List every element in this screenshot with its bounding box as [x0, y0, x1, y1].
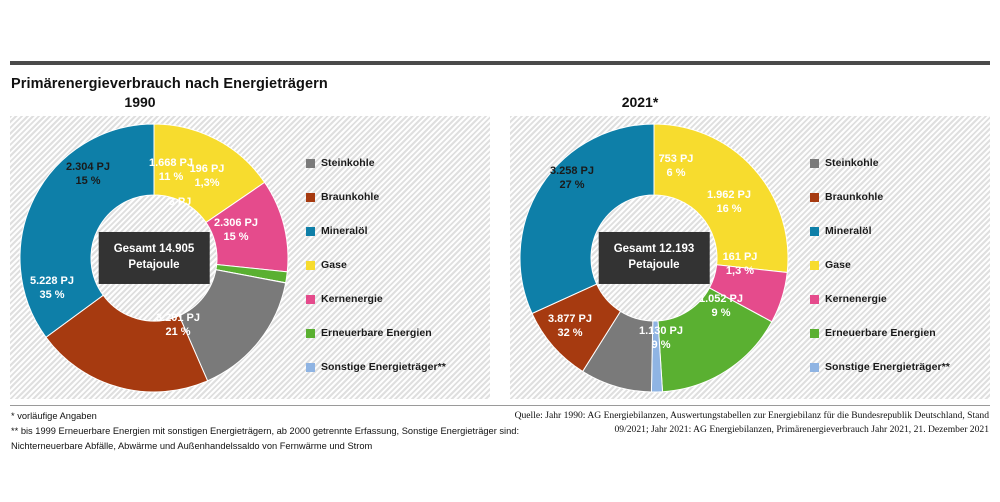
legend-swatch-icon-braunkohle	[810, 193, 819, 202]
footnote-line-1: * vorläufige Angaben	[11, 409, 531, 424]
top-divider	[10, 61, 990, 65]
legend-swatch-icon-sonstige-energietraeger	[306, 363, 315, 372]
legend-item-erneuerbare-energien[interactable]: Erneuerbare Energien	[810, 316, 950, 350]
footnote-line-2: ** bis 1999 Erneuerbare Energien mit son…	[11, 424, 531, 439]
center-total-line2: Petajoule	[628, 259, 679, 271]
legend-item-mineraloel[interactable]: Mineralöl	[810, 214, 950, 248]
chart-title-2021: 2021*	[400, 94, 880, 110]
page-title: Primärenergieverbrauch nach Energieträge…	[11, 76, 328, 92]
donut-chart-1990: Gesamt 14.905 Petajoule 2.304 PJ 15 % 1.…	[18, 122, 290, 394]
legend-swatch-icon-mineraloel	[306, 227, 315, 236]
legend-swatch-icon-kernenergie	[810, 295, 819, 304]
source-note: Quelle: Jahr 1990: AG Energiebilanzen, A…	[469, 409, 989, 438]
legend-swatch-icon-erneuerbare-energien	[810, 329, 819, 338]
bottom-divider	[10, 405, 990, 406]
center-total-line1: Gesamt 14.905	[114, 243, 195, 255]
legend-swatch-icon-sonstige-energietraeger	[810, 363, 819, 372]
legend-swatch-icon-steinkohle	[810, 159, 819, 168]
center-total-line1: Gesamt 12.193	[614, 243, 695, 255]
legend-swatch-icon-mineraloel	[810, 227, 819, 236]
legend-item-sonstige-energietraeger[interactable]: Sonstige Energieträger**	[810, 350, 950, 384]
legend-item-braunkohle[interactable]: Braunkohle	[306, 180, 446, 214]
center-total-1990: Gesamt 14.905 Petajoule	[100, 233, 209, 283]
legend-swatch-icon-steinkohle	[306, 159, 315, 168]
pie-slice-mineral-l[interactable]	[20, 124, 154, 337]
legend-item-gase[interactable]: Gase	[306, 248, 446, 282]
legend-swatch-icon-gase	[810, 261, 819, 270]
legend-swatch-icon-kernenergie	[306, 295, 315, 304]
legend-item-erneuerbare-energien[interactable]: Erneuerbare Energien	[306, 316, 446, 350]
legend-item-kernenergie[interactable]: Kernenergie	[306, 282, 446, 316]
source-line-1: Quelle: Jahr 1990: AG Energiebilanzen, A…	[469, 409, 989, 423]
footnotes: * vorläufige Angaben ** bis 1999 Erneuer…	[11, 409, 531, 454]
infographic-page: Primärenergieverbrauch nach Energieträge…	[0, 0, 1000, 502]
chart-panel-1990: 1990 Gesamt 14.905 Petajoule 2.304 PJ 15…	[10, 116, 490, 399]
legend-item-steinkohle[interactable]: Steinkohle	[810, 146, 950, 180]
chart-title-1990: 1990	[0, 94, 380, 110]
legend-item-kernenergie[interactable]: Kernenergie	[810, 282, 950, 316]
legend-item-steinkohle[interactable]: Steinkohle	[306, 146, 446, 180]
legend-1990: Steinkohle Braunkohle Mineralöl Gase Ker…	[306, 146, 446, 384]
legend-swatch-icon-erneuerbare-energien	[306, 329, 315, 338]
donut-chart-2021: Gesamt 12.193 Petajoule 3.258 PJ 27 % 75…	[518, 122, 790, 394]
legend-item-mineraloel[interactable]: Mineralöl	[306, 214, 446, 248]
footnote-line-3: Nichterneuerbare Abfälle, Abwärme und Au…	[11, 439, 531, 454]
legend-swatch-icon-gase	[306, 261, 315, 270]
chart-panel-2021: 2021* Gesamt 12.193 Petajoule 3.258 PJ 2…	[510, 116, 990, 399]
center-total-2021: Gesamt 12.193 Petajoule	[600, 233, 709, 283]
pie-slice-mineral-l[interactable]	[520, 124, 654, 314]
center-total-line2: Petajoule	[128, 259, 179, 271]
legend-swatch-icon-braunkohle	[306, 193, 315, 202]
legend-item-braunkohle[interactable]: Braunkohle	[810, 180, 950, 214]
source-line-2: 09/2021; Jahr 2021: AG Energiebilanzen, …	[469, 423, 989, 437]
legend-item-sonstige-energietraeger[interactable]: Sonstige Energieträger**	[306, 350, 446, 384]
legend-item-gase[interactable]: Gase	[810, 248, 950, 282]
legend-2021: Steinkohle Braunkohle Mineralöl Gase Ker…	[810, 146, 950, 384]
